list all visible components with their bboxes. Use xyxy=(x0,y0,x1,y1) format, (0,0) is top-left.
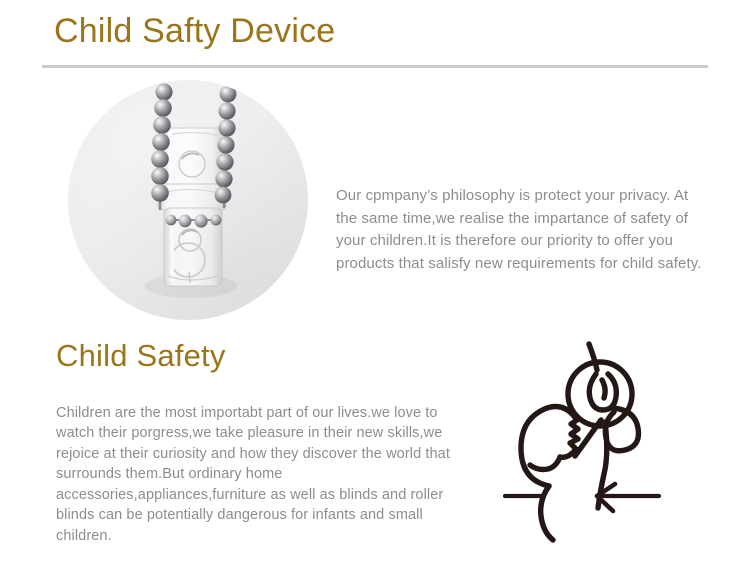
page-title: Child Safty Device xyxy=(54,10,335,52)
intro-paragraph: Our cpmpany’s philosophy is protect your… xyxy=(336,185,704,275)
section-paragraph: Children are the most importabt part of … xyxy=(56,403,466,547)
child-cord-loop-hazard-icon xyxy=(483,336,673,551)
product-photo-graphic xyxy=(68,80,308,320)
hazard-illustration xyxy=(483,336,673,551)
section-heading: Child Safety xyxy=(56,336,226,376)
product-photo xyxy=(68,80,308,320)
title-divider xyxy=(42,65,708,68)
